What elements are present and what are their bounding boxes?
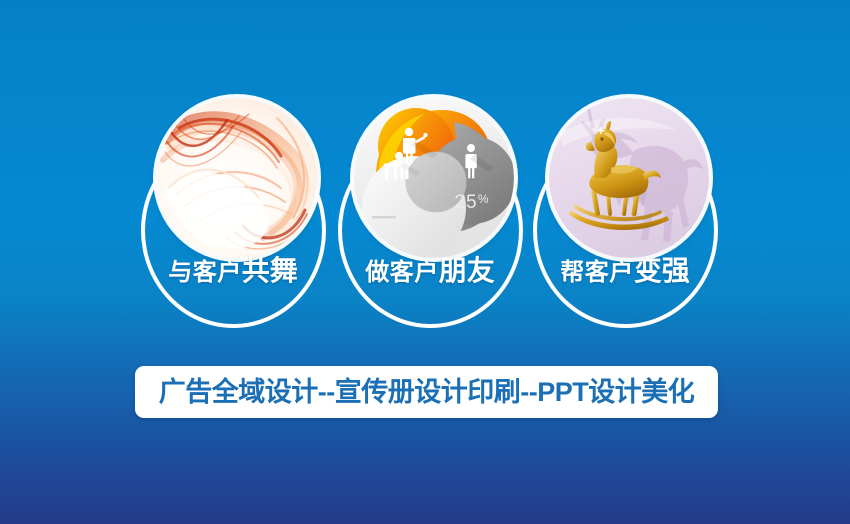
caption-emphasis: 变强 [634, 255, 690, 286]
caption-emphasis: 共舞 [242, 255, 298, 286]
caption-lead: 与客户 [168, 259, 242, 286]
services-banner-text: 广告全域设计--宣传册设计印刷--PPT设计美化 [159, 379, 694, 406]
feature-circle-row: 与客户共舞 [0, 90, 850, 340]
orange-smoke-swirl-image [157, 98, 317, 258]
caption-lead: 做客户 [365, 259, 439, 286]
infographic-people-circles-image: 25% [354, 98, 514, 258]
feature-circle-dance-with-customer[interactable]: 与客户共舞 [133, 90, 333, 340]
caption-lead: 帮客户 [560, 259, 634, 286]
feature-circle-make-customer-stronger[interactable]: 帮客户变强 [525, 90, 725, 340]
circle-caption-be-customer-friend: 做客户朋友 [330, 256, 530, 288]
services-banner[interactable]: 广告全域设计--宣传册设计印刷--PPT设计美化 [135, 366, 718, 418]
circle-caption-dance-with-customer: 与客户共舞 [133, 256, 333, 288]
feature-circle-be-customer-friend[interactable]: 25% 做客户朋友 [330, 90, 530, 340]
caption-emphasis: 朋友 [439, 255, 495, 286]
golden-rocking-horse-unicorn-shadow-image [549, 98, 709, 258]
poster-canvas: 与客户共舞 [0, 0, 850, 524]
circle-caption-make-customer-stronger: 帮客户变强 [525, 256, 725, 288]
